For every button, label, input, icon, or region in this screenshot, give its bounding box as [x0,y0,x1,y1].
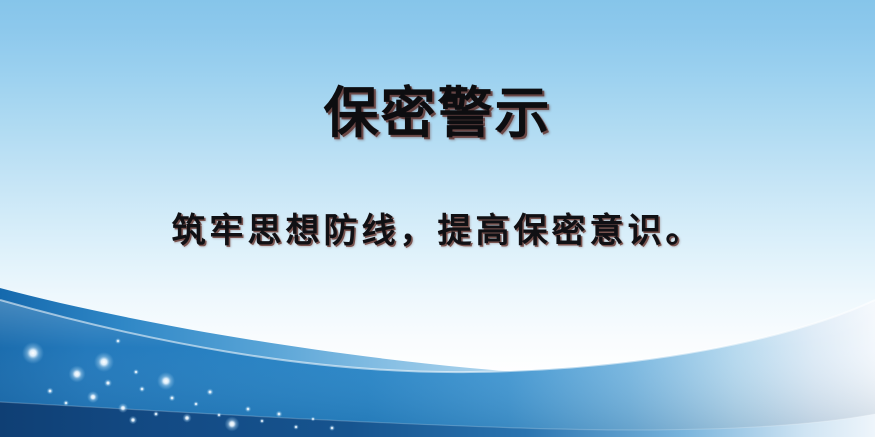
confidentiality-warning-poster: 保密警示 筑牢思想防线，提高保密意识。 [0,0,875,437]
poster-text-layer: 保密警示 筑牢思想防线，提高保密意识。 [0,0,875,437]
page-title: 保密警示 [0,82,875,144]
poster-subtitle: 筑牢思想防线，提高保密意识。 [0,209,875,253]
